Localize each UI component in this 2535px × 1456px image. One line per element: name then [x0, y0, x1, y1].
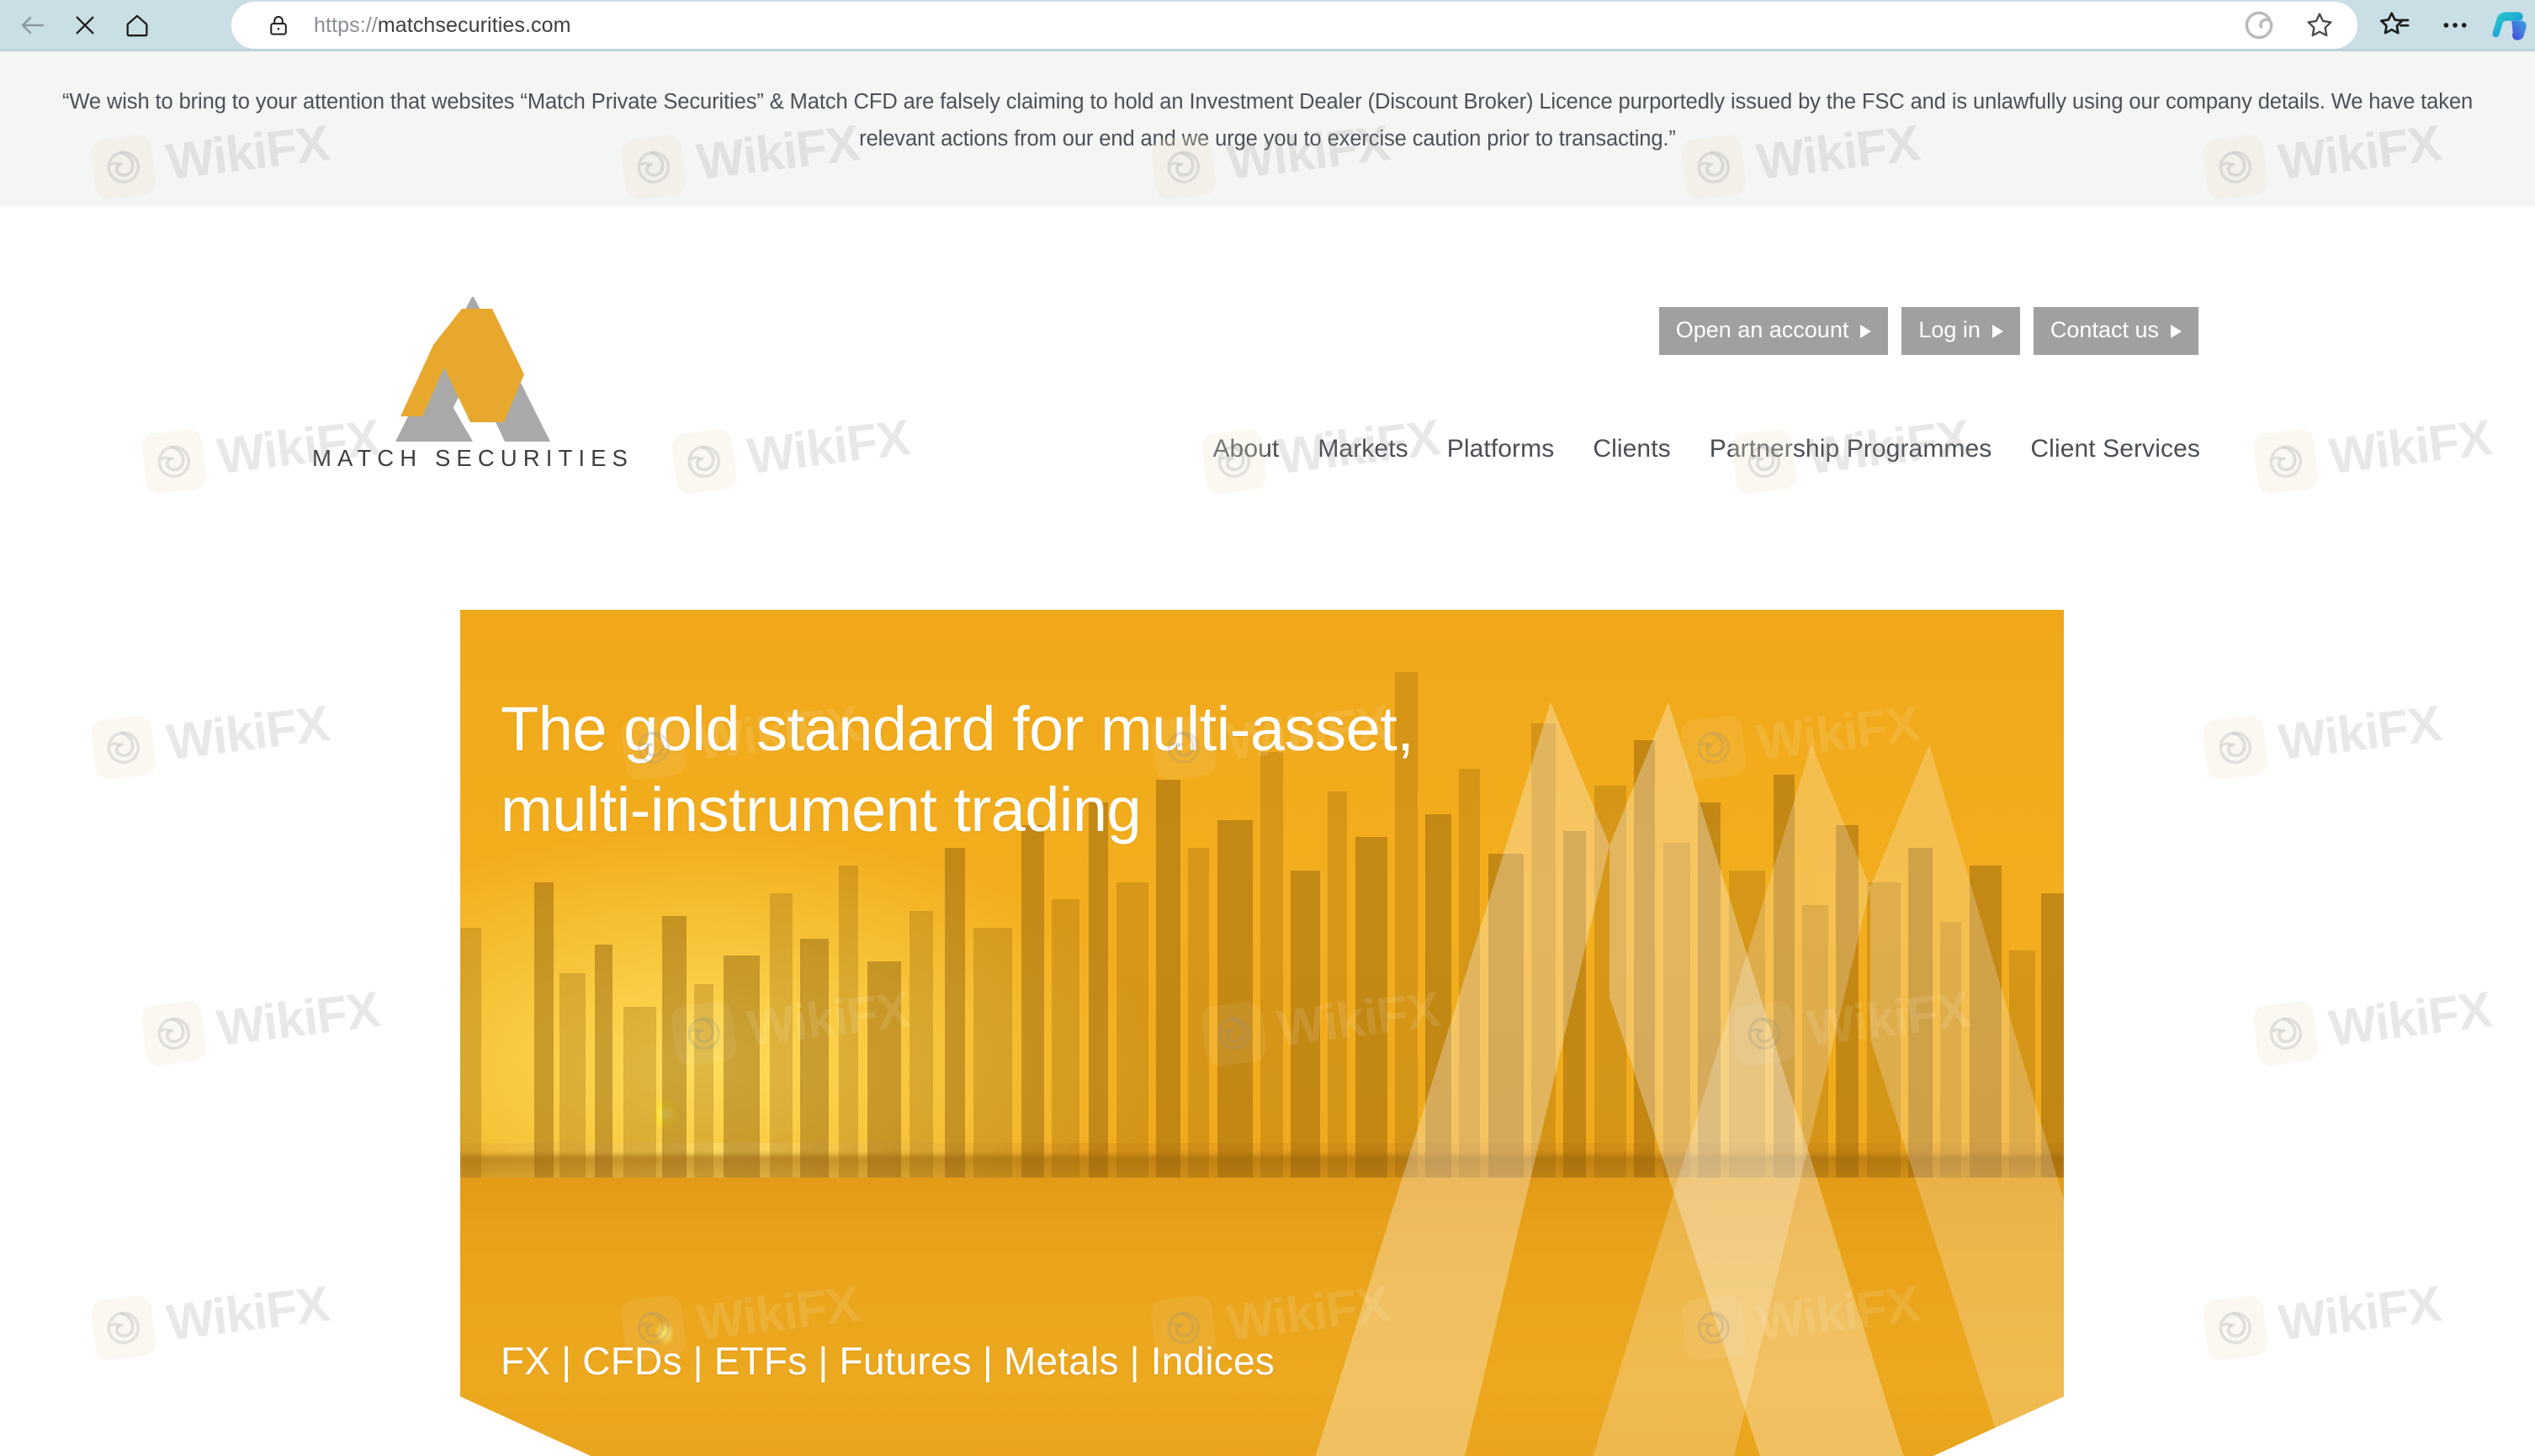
open-an-account-label: Open an account — [1676, 317, 1849, 343]
microsoft-copilot-icon[interactable] — [2490, 0, 2532, 50]
arrow-right-icon — [1860, 325, 1871, 338]
address-bar[interactable]: https://matchsecurities.com — [231, 2, 2357, 49]
omnibox-actions — [2236, 2, 2342, 49]
site-header: MATCH SECURITIES Open an account Log in … — [0, 206, 2535, 610]
hero-title-line2: multi-instrument trading — [501, 775, 1141, 844]
hero-title: The gold standard for multi-asset, multi… — [501, 689, 1931, 850]
notice-text: “We wish to bring to your attention that… — [52, 83, 2483, 157]
browser-toolbar: https://matchsecurities.com — [0, 0, 2535, 50]
match-securities-m-logo — [296, 297, 650, 444]
log-in-button[interactable]: Log in — [1901, 307, 2020, 355]
regulatory-notice-banner: “We wish to bring to your attention that… — [0, 51, 2535, 206]
hero-title-line1: The gold standard for multi-asset, — [501, 694, 1413, 764]
site-logo[interactable]: MATCH SECURITIES — [296, 297, 650, 490]
three-dots-icon[interactable] — [2429, 0, 2481, 50]
back-arrow-icon — [18, 10, 48, 40]
hero-banner: The gold standard for multi-asset, multi… — [460, 610, 2064, 1456]
home-button[interactable] — [111, 0, 163, 51]
page-content: “We wish to bring to your attention that… — [0, 51, 2535, 1456]
arrow-right-icon — [2171, 325, 2182, 338]
log-in-label: Log in — [1918, 317, 1981, 343]
star-outline-icon[interactable] — [2297, 3, 2342, 48]
open-an-account-button[interactable]: Open an account — [1659, 307, 1889, 355]
hero-asset-list: FX | CFDs | ETFs | Futures | Metals | In… — [501, 1338, 1275, 1384]
nav-about[interactable]: About — [1212, 435, 1279, 463]
close-x-icon — [72, 12, 98, 39]
home-icon — [123, 11, 151, 40]
nav-clients[interactable]: Clients — [1593, 435, 1670, 463]
edge-copilot-icon[interactable] — [2236, 3, 2282, 48]
logo-wordmark: MATCH SECURITIES — [296, 445, 650, 472]
nav-platforms[interactable]: Platforms — [1447, 435, 1555, 463]
browser-actions — [2368, 0, 2535, 50]
main-navigation: About Markets Platforms Clients Partners… — [1212, 435, 2200, 463]
arrow-right-icon — [1992, 325, 2003, 338]
nav-markets[interactable]: Markets — [1318, 435, 1408, 463]
contact-us-label: Contact us — [2050, 317, 2159, 343]
star-list-icon[interactable] — [2368, 0, 2421, 50]
nav-client-services[interactable]: Client Services — [2030, 435, 2200, 463]
url-text: https://matchsecurities.com — [314, 13, 571, 38]
url-scheme: https:// — [314, 13, 378, 37]
url-host: matchsecurities.com — [378, 13, 571, 37]
header-cta-group: Open an account Log in Contact us — [1659, 307, 2198, 355]
contact-us-button[interactable]: Contact us — [2034, 307, 2198, 355]
nav-partnership-programmes[interactable]: Partnership Programmes — [1710, 435, 1992, 463]
back-button[interactable] — [7, 0, 59, 51]
lock-icon — [255, 13, 302, 38]
stop-loading-button[interactable] — [59, 0, 111, 51]
